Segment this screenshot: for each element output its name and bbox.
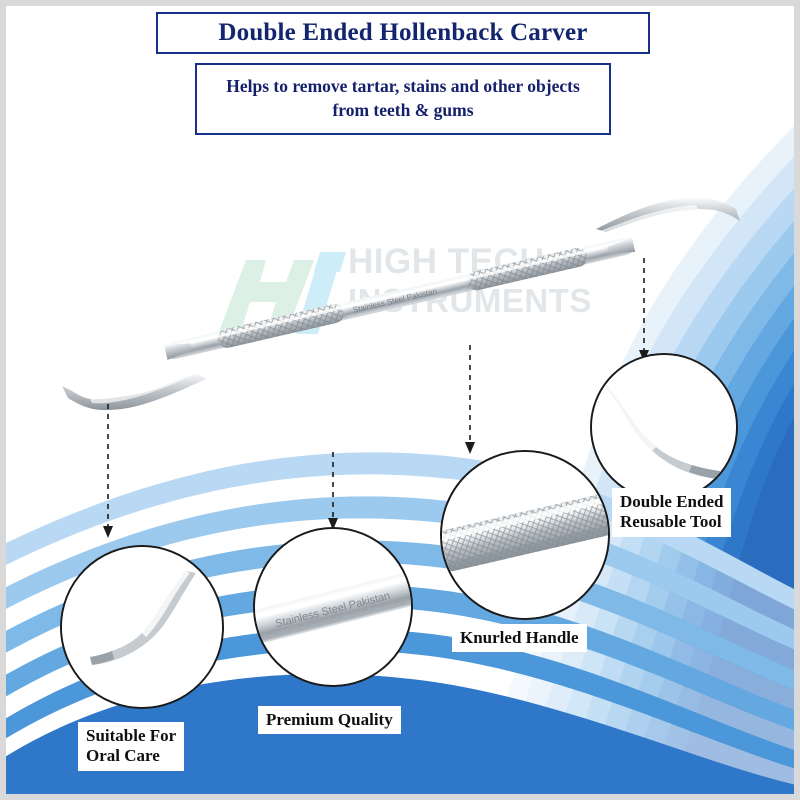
callout-oral-care	[60, 545, 224, 709]
subtitle-text: Helps to remove tartar, stains and other…	[197, 75, 609, 122]
frame-right	[794, 0, 800, 800]
product-infographic: HIGH TECH INSTRUMENTS	[0, 0, 800, 800]
label-knurled-handle: Knurled Handle	[452, 624, 587, 652]
page-title: Double Ended Hollenback Carver	[218, 19, 587, 47]
frame-top	[0, 0, 800, 6]
callout-double-ended	[590, 353, 738, 501]
label-oral-care: Suitable For Oral Care	[78, 722, 184, 771]
title-bar: Double Ended Hollenback Carver	[156, 12, 650, 54]
callout-premium-quality: Stainless Steel Pakistan	[253, 527, 413, 687]
label-premium-quality: Premium Quality	[258, 706, 401, 734]
subtitle-box: Helps to remove tartar, stains and other…	[195, 63, 611, 135]
callout-knurled-handle	[440, 450, 610, 620]
frame-left	[0, 0, 6, 800]
label-double-ended: Double Ended Reusable Tool	[612, 488, 731, 537]
frame-bottom	[0, 794, 800, 800]
